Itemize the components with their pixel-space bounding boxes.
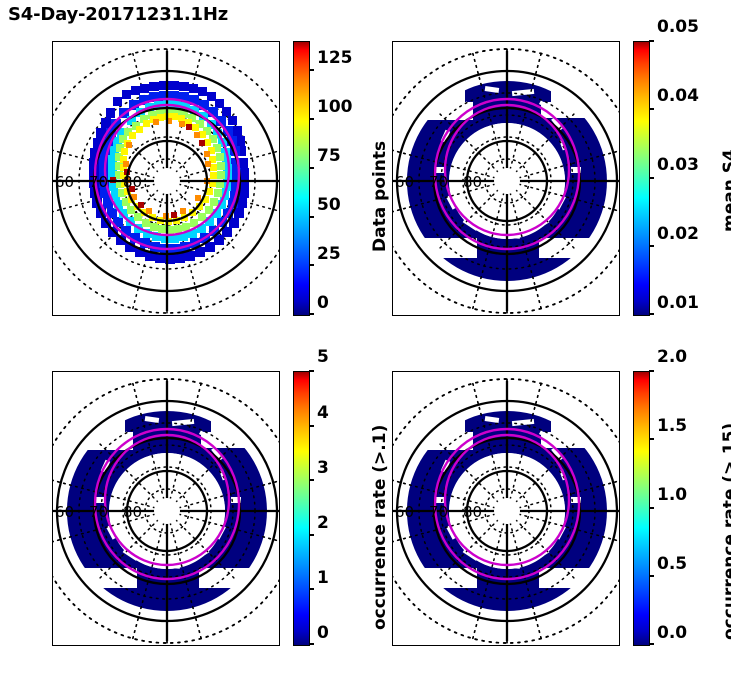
polar-plot-data-points xyxy=(53,42,280,316)
colorbar-ticklabel-05: 0.5 xyxy=(657,554,687,574)
panel-occurrence-rate-gt-point15: 60 70 80 0.0 0.5 1.0 1.5 2.0 occurrence … xyxy=(392,371,672,651)
colorbar-data-points[interactable]: 0 25 50 75 100 125 Data points xyxy=(293,41,310,316)
colorbar-ticklabel-10: 1.0 xyxy=(657,485,687,505)
colorbar-tick xyxy=(309,313,314,315)
colorbar-ticklabel-005: 0.05 xyxy=(657,17,699,37)
colorbar-tick xyxy=(309,167,314,169)
colorbar-tick xyxy=(649,643,654,645)
colorbar-ticklabel-5: 5 xyxy=(317,347,329,367)
colorbar-tick xyxy=(309,479,314,481)
page-title: S4-Day-20171231.1Hz xyxy=(8,4,228,25)
colorbar-ticklabel-50: 50 xyxy=(317,195,341,215)
colorbar-tick xyxy=(649,575,654,577)
polar-plot-mean-s4 xyxy=(393,42,620,316)
colorbar-title-occurrence-rate-gt-point15: occurrence rate (>.15) xyxy=(720,423,731,640)
colorbar-tick xyxy=(309,534,314,536)
polar-plot-occurrence-rate-gt-point1 xyxy=(53,372,280,646)
colorbar-ticklabel-003: 0.03 xyxy=(657,155,699,175)
colorbar-tick xyxy=(649,313,654,315)
lat-label-60: 60 xyxy=(395,503,414,521)
colorbar-gradient-occurrence-rate-gt-point1 xyxy=(294,372,309,645)
colorbar-tick xyxy=(309,643,314,645)
colorbar-ticklabel-75: 75 xyxy=(317,146,341,166)
lat-label-80: 80 xyxy=(123,173,142,191)
colorbar-tick xyxy=(309,216,314,218)
colorbar-ticklabel-100: 100 xyxy=(317,97,353,117)
panel-axes-data-points: 60 70 80 xyxy=(52,41,280,316)
panel-axes-occurrence-rate-gt-point15: 60 70 80 xyxy=(392,371,620,646)
colorbar-tick xyxy=(649,370,654,372)
colorbar-tick xyxy=(309,425,314,427)
panel-mean-s4: 60 70 80 0.01 0.02 0.03 0.04 0.05 mean S… xyxy=(392,41,672,321)
panel-occurrence-rate-gt-point1: 60 70 80 0 1 2 3 4 5 occurrence rate (>.… xyxy=(52,371,332,651)
colorbar-occurrence-rate-gt-point1[interactable]: 0 1 2 3 4 5 occurrence rate (>.1) xyxy=(293,371,310,646)
colorbar-ticklabel-0: 0 xyxy=(317,293,329,313)
colorbar-title-mean-s4: mean S4 xyxy=(720,149,731,232)
lat-label-70: 70 xyxy=(89,503,108,521)
colorbar-tick xyxy=(649,245,654,247)
colorbar-ticklabel-15: 1.5 xyxy=(657,416,687,436)
colorbar-gradient-data-points xyxy=(294,42,309,315)
lat-label-70: 70 xyxy=(429,503,448,521)
panel-data-points: 60 70 80 0 25 50 75 100 125 Data points xyxy=(52,41,332,321)
colorbar-tick xyxy=(309,588,314,590)
colorbar-tick xyxy=(309,118,314,120)
lat-label-60: 60 xyxy=(55,173,74,191)
lat-label-70: 70 xyxy=(89,173,108,191)
panel-axes-mean-s4: 60 70 80 xyxy=(392,41,620,316)
panel-axes-occurrence-rate-gt-point1: 60 70 80 xyxy=(52,371,280,646)
colorbar-tick xyxy=(649,438,654,440)
colorbar-ticklabel-25: 25 xyxy=(317,244,341,264)
colorbar-tick xyxy=(309,69,314,71)
lat-label-60: 60 xyxy=(55,503,74,521)
colorbar-tick xyxy=(649,108,654,110)
colorbar-title-data-points: Data points xyxy=(370,141,390,252)
colorbar-gradient-occurrence-rate-gt-point15 xyxy=(634,372,649,645)
colorbar-title-occurrence-rate-gt-point1: occurrence rate (>.1) xyxy=(370,425,390,630)
colorbar-tick xyxy=(309,264,314,266)
lat-label-60: 60 xyxy=(395,173,414,191)
colorbar-ticklabel-0: 0 xyxy=(317,623,329,643)
colorbar-tick xyxy=(649,507,654,509)
lat-label-80: 80 xyxy=(463,173,482,191)
colorbar-tick xyxy=(649,177,654,179)
colorbar-mean-s4[interactable]: 0.01 0.02 0.03 0.04 0.05 mean S4 xyxy=(633,41,650,316)
colorbar-tick xyxy=(649,40,654,42)
colorbar-ticklabel-20: 2.0 xyxy=(657,347,687,367)
colorbar-ticklabel-2: 2 xyxy=(317,513,329,533)
colorbar-ticklabel-4: 4 xyxy=(317,403,329,423)
lat-label-80: 80 xyxy=(463,503,482,521)
colorbar-ticklabel-001: 0.01 xyxy=(657,293,699,313)
colorbar-ticklabel-125: 125 xyxy=(317,48,353,68)
colorbar-tick xyxy=(309,370,314,372)
polar-plot-occurrence-rate-gt-point15 xyxy=(393,372,620,646)
colorbar-ticklabel-00: 0.0 xyxy=(657,623,687,643)
figure-canvas: S4-Day-20171231.1Hz xyxy=(0,0,731,674)
colorbar-ticklabel-004: 0.04 xyxy=(657,86,699,106)
colorbar-occurrence-rate-gt-point15[interactable]: 0.0 0.5 1.0 1.5 2.0 occurrence rate (>.1… xyxy=(633,371,650,646)
colorbar-ticklabel-3: 3 xyxy=(317,458,329,478)
lat-label-80: 80 xyxy=(123,503,142,521)
colorbar-ticklabel-002: 0.02 xyxy=(657,224,699,244)
lat-label-70: 70 xyxy=(429,173,448,191)
colorbar-gradient-mean-s4 xyxy=(634,42,649,315)
colorbar-ticklabel-1: 1 xyxy=(317,568,329,588)
